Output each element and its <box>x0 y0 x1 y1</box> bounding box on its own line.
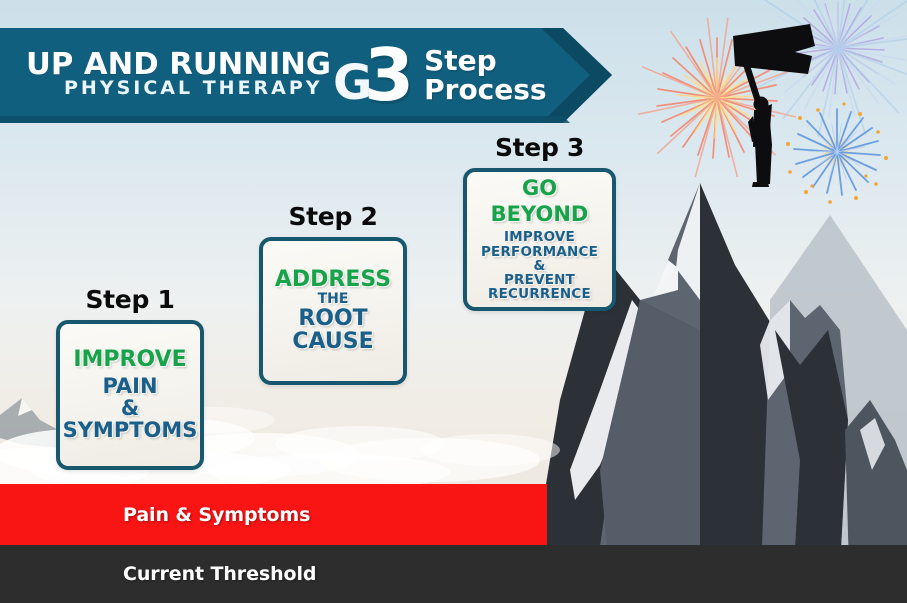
current-threshold-bar-label: Current Threshold <box>123 563 316 585</box>
current-threshold-bar: Current Threshold <box>0 545 547 603</box>
step-2-small-line: THE <box>318 292 349 307</box>
pain-symptoms-bar-label: Pain & Symptoms <box>123 504 310 526</box>
step-3-headline-line-2: BEYOND <box>491 204 589 225</box>
step-3-label: Step 3 <box>463 133 616 162</box>
logo-mark-g: G <box>333 59 372 107</box>
step-3-headline-line-1: GO <box>522 178 557 199</box>
step-group-3: Step 3 GO BEYOND IMPROVE PERFORMANCE & P… <box>463 133 616 311</box>
pain-symptoms-bar: Pain & Symptoms <box>0 484 547 545</box>
step-3-detail-line-2: PERFORMANCE <box>481 245 598 259</box>
step-group-2: Step 2 ADDRESS THE ROOT CAUSE <box>259 202 407 385</box>
step-3-detail-line-5: RECURRENCE <box>488 287 591 301</box>
step-1-box[interactable]: IMPROVE PAIN & SYMPTOMS <box>56 320 204 470</box>
step-1-headline: IMPROVE <box>73 349 186 371</box>
step-1-detail-line-3: SYMPTOMS <box>63 419 198 441</box>
step-1-label: Step 1 <box>56 285 204 314</box>
step-1-detail-line-2: & <box>121 397 139 419</box>
banner-title: Step Process <box>424 47 547 104</box>
step-3-detail-line-4: PREVENT <box>504 273 575 287</box>
step-3-detail-line-1: IMPROVE <box>504 230 575 244</box>
step-1-detail-line-1: PAIN <box>102 375 157 397</box>
logo-secondary-text: PHYSICAL THERAPY <box>64 77 323 99</box>
step-2-label: Step 2 <box>259 202 407 231</box>
step-2-box[interactable]: ADDRESS THE ROOT CAUSE <box>259 237 407 385</box>
header-banner: UP AND RUNNING PHYSICAL THERAPY G 3 Step… <box>0 28 612 123</box>
step-2-detail-line-1: ROOT <box>298 307 367 330</box>
climber-torso <box>753 110 772 147</box>
step-2-headline: ADDRESS <box>275 269 391 291</box>
banner-title-line2: Process <box>424 76 547 105</box>
step-group-1: Step 1 IMPROVE PAIN & SYMPTOMS <box>56 285 204 470</box>
banner-title-line1: Step <box>424 47 547 76</box>
step-3-box[interactable]: GO BEYOND IMPROVE PERFORMANCE & PREVENT … <box>463 168 616 311</box>
step-3-detail-line-3: & <box>534 259 546 273</box>
infographic-canvas: UP AND RUNNING PHYSICAL THERAPY G 3 Step… <box>0 0 907 603</box>
banner-content: UP AND RUNNING PHYSICAL THERAPY G 3 Step… <box>0 28 612 123</box>
company-logo: UP AND RUNNING PHYSICAL THERAPY G <box>26 45 356 107</box>
step-2-detail-line-2: CAUSE <box>292 330 373 353</box>
